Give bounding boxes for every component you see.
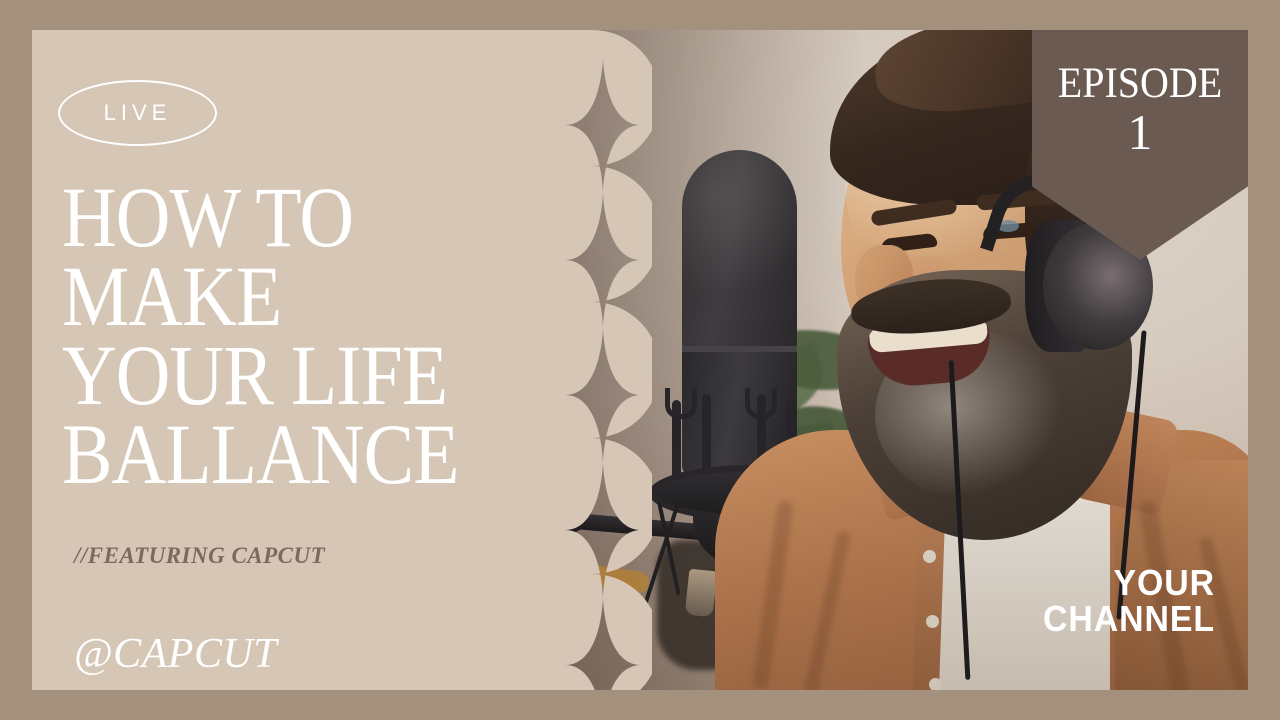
- channel-name: YOUR CHANNEL: [1043, 565, 1215, 638]
- channel-line-2: CHANNEL: [1043, 601, 1215, 638]
- headline-line-4: BALLANCE: [62, 415, 476, 494]
- thumbnail-canvas: LIVE HOW TO MAKE YOUR LIFE BALLANCE //FE…: [0, 0, 1280, 720]
- headline-line-2: MAKE: [62, 257, 476, 336]
- live-badge-label: LIVE: [104, 100, 172, 126]
- live-badge[interactable]: LIVE: [58, 80, 217, 146]
- featuring-text: //FEATURING CAPCUT: [74, 543, 325, 569]
- artboard: LIVE HOW TO MAKE YOUR LIFE BALLANCE //FE…: [32, 30, 1248, 690]
- episode-label: EPISODE: [1040, 62, 1241, 105]
- social-handle: @CAPCUT: [74, 630, 277, 678]
- headline-line-1: HOW TO: [62, 178, 476, 257]
- episode-number: 1: [1032, 107, 1248, 157]
- page-title: HOW TO MAKE YOUR LIFE BALLANCE: [62, 178, 476, 494]
- channel-line-1: YOUR: [1043, 565, 1215, 602]
- headline-line-3: YOUR LIFE: [62, 336, 476, 415]
